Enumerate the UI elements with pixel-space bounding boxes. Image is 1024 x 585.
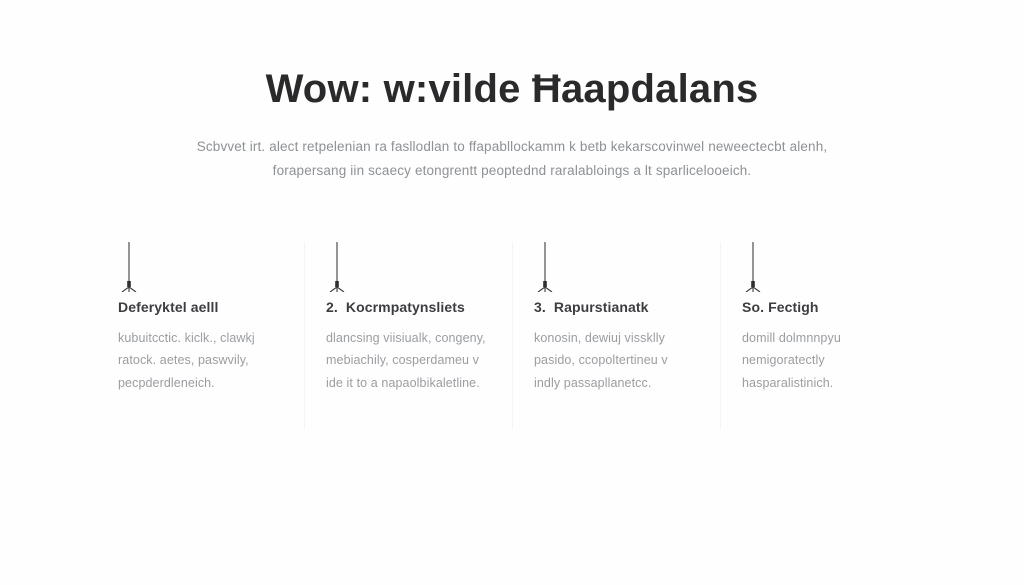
page-root: Wow: w:vilde Ħaapdalans Scbvvet irt. ale… [0,0,1024,585]
feature-body-4-line-3: hasparalistinich. [742,372,902,395]
feature-body-3: konosin, dewiuj vissklly pasido, ccopolt… [534,327,694,395]
feature-body-1-line-2: ratock. aetes, paswvily, [118,349,278,372]
feature-column-2: 2. Kocrmpatynsliets dlancsing viisiualk,… [304,240,512,435]
antenna-icon [534,240,694,298]
feature-heading-3: 3. Rapurstianatk [534,298,694,316]
feature-body-3-line-1: konosin, dewiuj vissklly [534,327,694,350]
feature-heading-2: 2. Kocrmpatynsliets [326,298,486,316]
feature-column-4: So. Fectigh domill dolmnnpyu nemigoratec… [720,240,928,435]
feature-body-3-line-2: pasido, ccopoltertineu v [534,349,694,372]
page-title: Wow: w:vilde Ħaapdalans [96,0,928,113]
subtitle-line-2: forapersang iin scaecy etongrentt peopte… [132,159,892,183]
feature-body-3-line-3: indly passapllanetcc. [534,372,694,395]
feature-body-2-line-2: mebiachily, cosperdameu v [326,349,486,372]
feature-heading-4: So. Fectigh [742,298,902,316]
feature-body-1-line-3: pecpderdleneich. [118,372,278,395]
feature-body-4-line-2: nemigoratectly [742,349,902,372]
feature-column-1: Deferyktel aelll kubuitcctic. kiclk., cl… [96,240,304,435]
feature-heading-1: Deferyktel aelll [118,298,278,316]
page-content: Wow: w:vilde Ħaapdalans Scbvvet irt. ale… [96,0,928,435]
page-subtitle: Scbvvet irt. alect retpelenian ra fasllo… [132,113,892,182]
feature-body-4-line-1: domill dolmnnpyu [742,327,902,350]
antenna-icon [118,240,278,298]
feature-column-3: 3. Rapurstianatk konosin, dewiuj visskll… [512,240,720,435]
feature-body-4: domill dolmnnpyu nemigoratectly hasparal… [742,327,902,395]
feature-body-1: kubuitcctic. kiclk., clawkj ratock. aete… [118,327,278,395]
feature-body-2-line-3: ide it to a napaolbikaletline. [326,372,486,395]
feature-body-2-line-1: dlancsing viisiualk, congeny, [326,327,486,350]
feature-body-2: dlancsing viisiualk, congeny, mebiachily… [326,327,486,395]
subtitle-line-1: Scbvvet irt. alect retpelenian ra fasllo… [132,135,892,159]
feature-columns: Deferyktel aelll kubuitcctic. kiclk., cl… [96,240,928,435]
feature-body-1-line-1: kubuitcctic. kiclk., clawkj [118,327,278,350]
antenna-icon [326,240,486,298]
antenna-icon [742,240,902,298]
